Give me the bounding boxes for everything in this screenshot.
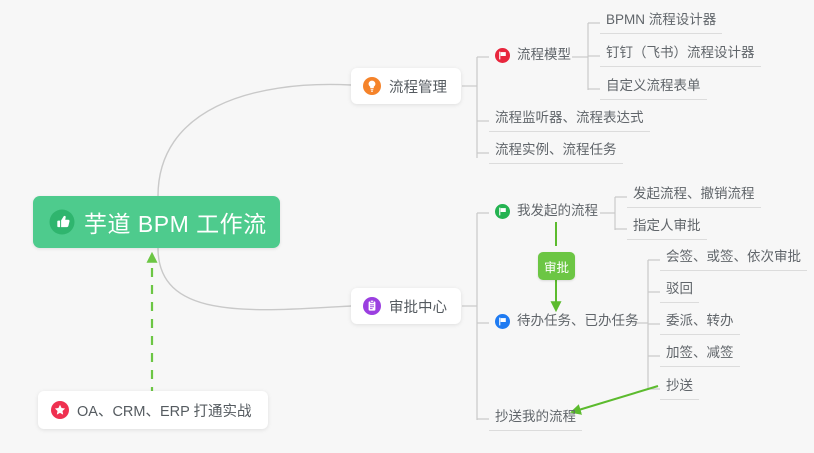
clipboard-icon [363, 297, 381, 315]
root-label: 芋道 BPM 工作流 [84, 205, 267, 239]
link-root-to-process [158, 84, 351, 196]
leaf-delegate-transfer[interactable]: 委派、转办 [660, 313, 740, 335]
leaf-my-initiated-processes[interactable]: 我发起的流程 [489, 203, 604, 220]
thumbs-up-icon [49, 209, 75, 235]
leaf-countersign-orsign-sequential[interactable]: 会签、或签、依次审批 [660, 249, 807, 271]
leaf-todo-done-tasks[interactable]: 待办任务、已办任务 [489, 313, 645, 330]
flow-tag-approve: 审批 [538, 252, 575, 280]
leaf-process-model[interactable]: 流程模型 [489, 47, 577, 64]
note-node-integration[interactable]: OA、CRM、ERP 打通实战 [38, 391, 268, 429]
branch-label-process-management: 流程管理 [389, 76, 447, 97]
leaf-process-instance-task[interactable]: 流程实例、流程任务 [489, 142, 623, 164]
lightbulb-icon [363, 77, 381, 95]
leaf-bpmn-designer[interactable]: BPMN 流程设计器 [600, 12, 722, 34]
link-root-to-approval [158, 248, 351, 310]
root-node[interactable]: 芋道 BPM 工作流 [33, 196, 280, 248]
leaf-custom-process-form[interactable]: 自定义流程表单 [600, 78, 707, 100]
branch-node-approval-center[interactable]: 审批中心 [351, 288, 461, 324]
leaf-label-my-initiated-processes: 我发起的流程 [517, 203, 598, 220]
leaf-start-cancel-process[interactable]: 发起流程、撤销流程 [627, 186, 761, 208]
leaf-add-remove-sign[interactable]: 加签、减签 [660, 345, 740, 367]
leaf-process-listener-expression[interactable]: 流程监听器、流程表达式 [489, 110, 650, 132]
leaf-cc-my-processes[interactable]: 抄送我的流程 [489, 409, 582, 431]
mindmap-canvas: 芋道 BPM 工作流 流程管理 审批中心 [0, 0, 814, 453]
flag-icon [495, 314, 510, 329]
leaf-assigned-approver[interactable]: 指定人审批 [627, 218, 707, 240]
leaf-carbon-copy[interactable]: 抄送 [660, 378, 699, 400]
branch-node-process-management[interactable]: 流程管理 [351, 68, 461, 104]
flag-icon [495, 204, 510, 219]
branch-label-approval-center: 审批中心 [389, 296, 447, 317]
leaf-label-process-model: 流程模型 [517, 47, 571, 64]
arrow-cc-to-ccflow [572, 386, 658, 412]
leaf-label-todo-done-tasks: 待办任务、已办任务 [517, 313, 639, 330]
leaf-dingtalk-feishu-designer[interactable]: 钉钉（飞书）流程设计器 [600, 45, 761, 67]
note-label-integration: OA、CRM、ERP 打通实战 [77, 400, 252, 421]
leaf-reject[interactable]: 驳回 [660, 281, 699, 303]
flag-icon [495, 48, 510, 63]
star-icon [51, 401, 69, 419]
